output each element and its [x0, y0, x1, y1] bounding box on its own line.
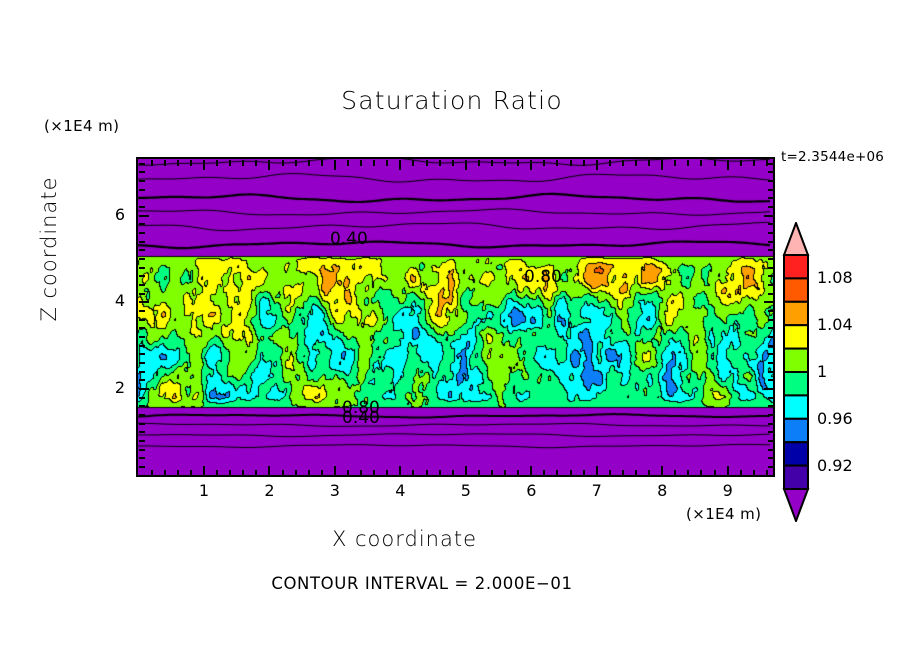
- colorbar-swatch: [784, 372, 808, 395]
- x-minor-tick: [164, 470, 166, 476]
- y-minor-tick: [139, 232, 145, 234]
- contour-plot-area: [136, 157, 775, 477]
- x-tick-label: 2: [254, 481, 284, 500]
- x-tick-label: 7: [582, 481, 612, 500]
- x-minor-tick: [321, 160, 323, 166]
- x-major-tick: [399, 466, 401, 476]
- colorbar-tick-label: 1.04: [817, 315, 853, 334]
- x-minor-tick: [229, 160, 231, 166]
- colorbar-tick-label: 0.96: [817, 409, 853, 428]
- y-minor-tick: [139, 310, 145, 312]
- x-minor-tick: [570, 470, 572, 476]
- x-tick-label: 3: [320, 481, 350, 500]
- y-minor-tick: [768, 449, 774, 451]
- y-minor-tick: [139, 180, 145, 182]
- y-minor-tick: [768, 397, 774, 399]
- colorbar-swatch: [784, 255, 808, 278]
- x-minor-tick: [491, 160, 493, 166]
- y-minor-tick: [768, 371, 774, 373]
- x-minor-tick: [635, 160, 637, 166]
- y-minor-tick: [768, 336, 774, 338]
- y-minor-tick: [139, 405, 145, 407]
- y-minor-tick: [768, 431, 774, 433]
- timestamp-label: t=2.3544e+06: [781, 149, 884, 165]
- x-minor-tick: [295, 470, 297, 476]
- contour-level-label: 0.40: [342, 408, 380, 428]
- y-minor-tick: [768, 267, 774, 269]
- x-minor-tick: [386, 470, 388, 476]
- y-minor-tick: [768, 319, 774, 321]
- y-minor-tick: [139, 345, 145, 347]
- x-minor-tick: [412, 160, 414, 166]
- x-major-tick: [596, 160, 598, 170]
- y-minor-tick: [139, 189, 145, 191]
- plot-page: Saturation Ratio (×1E4 m) (×1E4 m) t=2.3…: [0, 0, 904, 654]
- y-minor-tick: [139, 206, 145, 208]
- x-minor-tick: [229, 470, 231, 476]
- colorbar-swatch: [784, 395, 808, 418]
- x-minor-tick: [517, 160, 519, 166]
- y-minor-tick: [139, 440, 145, 442]
- x-minor-tick: [714, 160, 716, 166]
- y-axis-title: Z coordinate: [37, 169, 61, 329]
- x-tick-label: 6: [516, 481, 546, 500]
- colorbar-tick-label: 0.92: [817, 456, 853, 475]
- x-minor-tick: [740, 470, 742, 476]
- x-minor-tick: [648, 470, 650, 476]
- x-major-tick: [465, 160, 467, 170]
- contour-level-label: 0.40: [330, 229, 368, 249]
- y-minor-tick: [768, 345, 774, 347]
- y-minor-tick: [139, 223, 145, 225]
- y-minor-tick: [768, 362, 774, 364]
- x-minor-tick: [491, 470, 493, 476]
- x-minor-tick: [164, 160, 166, 166]
- x-minor-tick: [216, 470, 218, 476]
- x-tick-label: 5: [451, 481, 481, 500]
- y-minor-tick: [768, 353, 774, 355]
- y-minor-tick: [768, 163, 774, 165]
- y-major-tick: [139, 215, 149, 217]
- x-minor-tick: [622, 160, 624, 166]
- y-minor-tick: [768, 405, 774, 407]
- colorbar-swatch: [784, 419, 808, 442]
- y-major-tick: [764, 301, 774, 303]
- x-major-tick: [334, 160, 336, 170]
- y-minor-tick: [768, 197, 774, 199]
- x-minor-tick: [570, 160, 572, 166]
- x-major-tick: [203, 466, 205, 476]
- contour-field-canvas: [138, 159, 773, 475]
- contour-interval-caption: CONTOUR INTERVAL = 2.000E−01: [0, 574, 904, 593]
- x-major-tick: [465, 466, 467, 476]
- x-tick-label: 1: [189, 481, 219, 500]
- y-major-tick: [139, 301, 149, 303]
- x-minor-tick: [282, 160, 284, 166]
- x-minor-tick: [386, 160, 388, 166]
- x-minor-tick: [674, 160, 676, 166]
- x-minor-tick: [609, 470, 611, 476]
- y-minor-tick: [139, 362, 145, 364]
- y-minor-tick: [139, 258, 145, 260]
- x-minor-tick: [700, 470, 702, 476]
- x-minor-tick: [504, 470, 506, 476]
- x-minor-tick: [517, 470, 519, 476]
- x-minor-tick: [373, 470, 375, 476]
- y-minor-tick: [768, 206, 774, 208]
- colorbar-swatch: [784, 442, 808, 465]
- y-minor-tick: [139, 353, 145, 355]
- x-minor-tick: [635, 470, 637, 476]
- x-tick-label: 4: [385, 481, 415, 500]
- x-minor-tick: [609, 160, 611, 166]
- x-minor-tick: [740, 160, 742, 166]
- y-tick-label: 2: [103, 378, 125, 397]
- page-title: Saturation Ratio: [0, 86, 904, 115]
- colorbar-tick-label: 1.08: [817, 268, 853, 287]
- x-major-tick: [661, 466, 663, 476]
- y-minor-tick: [768, 423, 774, 425]
- x-minor-tick: [190, 160, 192, 166]
- x-minor-tick: [321, 470, 323, 476]
- colorbar-swatch: [784, 278, 808, 301]
- y-minor-tick: [768, 249, 774, 251]
- y-minor-tick: [139, 397, 145, 399]
- colorbar-swatch: [784, 325, 808, 348]
- y-minor-tick: [139, 319, 145, 321]
- y-minor-tick: [139, 449, 145, 451]
- y-major-tick: [764, 215, 774, 217]
- x-axis-unit-label: (×1E4 m): [686, 505, 761, 523]
- x-minor-tick: [583, 160, 585, 166]
- y-minor-tick: [139, 171, 145, 173]
- colorbar-cap-bottom: [784, 489, 808, 521]
- x-minor-tick: [452, 160, 454, 166]
- x-minor-tick: [412, 470, 414, 476]
- x-major-tick: [661, 160, 663, 170]
- x-minor-tick: [242, 160, 244, 166]
- x-minor-tick: [622, 470, 624, 476]
- x-tick-label: 8: [647, 481, 677, 500]
- x-minor-tick: [177, 470, 179, 476]
- x-minor-tick: [360, 160, 362, 166]
- y-minor-tick: [139, 327, 145, 329]
- y-minor-tick: [139, 379, 145, 381]
- y-tick-label: 4: [103, 291, 125, 310]
- x-major-tick: [268, 466, 270, 476]
- y-minor-tick: [139, 197, 145, 199]
- x-minor-tick: [478, 470, 480, 476]
- y-major-tick: [764, 388, 774, 390]
- y-minor-tick: [768, 223, 774, 225]
- x-minor-tick: [556, 470, 558, 476]
- x-minor-tick: [714, 470, 716, 476]
- x-minor-tick: [648, 160, 650, 166]
- x-minor-tick: [504, 160, 506, 166]
- colorbar-cap-top: [784, 223, 808, 255]
- y-minor-tick: [139, 431, 145, 433]
- y-minor-tick: [139, 241, 145, 243]
- x-minor-tick: [360, 470, 362, 476]
- x-minor-tick: [700, 160, 702, 166]
- y-minor-tick: [139, 371, 145, 373]
- x-major-tick: [334, 466, 336, 476]
- x-minor-tick: [347, 470, 349, 476]
- x-minor-tick: [766, 470, 768, 476]
- x-minor-tick: [583, 470, 585, 476]
- colorbar-swatch: [784, 302, 808, 325]
- y-minor-tick: [768, 171, 774, 173]
- x-minor-tick: [439, 160, 441, 166]
- x-minor-tick: [177, 160, 179, 166]
- x-minor-tick: [151, 160, 153, 166]
- x-minor-tick: [543, 160, 545, 166]
- x-minor-tick: [452, 470, 454, 476]
- x-major-tick: [727, 160, 729, 170]
- x-minor-tick: [674, 470, 676, 476]
- x-minor-tick: [426, 160, 428, 166]
- x-minor-tick: [255, 160, 257, 166]
- y-minor-tick: [139, 423, 145, 425]
- y-minor-tick: [139, 249, 145, 251]
- x-minor-tick: [439, 470, 441, 476]
- y-minor-tick: [768, 232, 774, 234]
- x-minor-tick: [478, 160, 480, 166]
- x-major-tick: [530, 160, 532, 170]
- x-minor-tick: [543, 470, 545, 476]
- y-minor-tick: [768, 379, 774, 381]
- y-axis-unit-label: (×1E4 m): [44, 117, 119, 135]
- y-minor-tick: [139, 267, 145, 269]
- x-minor-tick: [687, 160, 689, 166]
- contour-level-label: 0.80: [524, 267, 562, 287]
- x-minor-tick: [308, 160, 310, 166]
- y-minor-tick: [768, 180, 774, 182]
- x-major-tick: [727, 466, 729, 476]
- x-minor-tick: [295, 160, 297, 166]
- y-minor-tick: [768, 310, 774, 312]
- y-minor-tick: [768, 275, 774, 277]
- x-minor-tick: [255, 470, 257, 476]
- x-major-tick: [596, 466, 598, 476]
- y-minor-tick: [139, 457, 145, 459]
- y-minor-tick: [768, 189, 774, 191]
- y-minor-tick: [139, 293, 145, 295]
- x-minor-tick: [282, 470, 284, 476]
- x-minor-tick: [753, 160, 755, 166]
- x-minor-tick: [426, 470, 428, 476]
- y-minor-tick: [139, 336, 145, 338]
- y-minor-tick: [768, 327, 774, 329]
- x-minor-tick: [373, 160, 375, 166]
- x-major-tick: [268, 160, 270, 170]
- y-minor-tick: [768, 284, 774, 286]
- y-minor-tick: [139, 284, 145, 286]
- y-minor-tick: [768, 440, 774, 442]
- y-tick-label: 6: [103, 205, 125, 224]
- x-minor-tick: [753, 470, 755, 476]
- y-minor-tick: [768, 414, 774, 416]
- x-minor-tick: [347, 160, 349, 166]
- y-minor-tick: [768, 457, 774, 459]
- colorbar-swatch: [784, 466, 808, 489]
- y-minor-tick: [139, 163, 145, 165]
- y-major-tick: [139, 388, 149, 390]
- x-minor-tick: [151, 470, 153, 476]
- x-minor-tick: [556, 160, 558, 166]
- x-minor-tick: [242, 470, 244, 476]
- y-minor-tick: [768, 466, 774, 468]
- colorbar: [782, 222, 810, 522]
- x-minor-tick: [308, 470, 310, 476]
- x-axis-title: X coordinate: [0, 527, 904, 551]
- x-minor-tick: [190, 470, 192, 476]
- y-minor-tick: [768, 241, 774, 243]
- x-major-tick: [203, 160, 205, 170]
- colorbar-tick-label: 1: [817, 362, 827, 381]
- x-minor-tick: [216, 160, 218, 166]
- y-minor-tick: [768, 293, 774, 295]
- x-minor-tick: [687, 470, 689, 476]
- y-minor-tick: [139, 466, 145, 468]
- x-major-tick: [399, 160, 401, 170]
- y-minor-tick: [139, 414, 145, 416]
- y-minor-tick: [139, 275, 145, 277]
- colorbar-swatch: [784, 349, 808, 372]
- y-minor-tick: [768, 258, 774, 260]
- colorbar-svg: [782, 222, 810, 522]
- x-tick-label: 9: [713, 481, 743, 500]
- x-major-tick: [530, 466, 532, 476]
